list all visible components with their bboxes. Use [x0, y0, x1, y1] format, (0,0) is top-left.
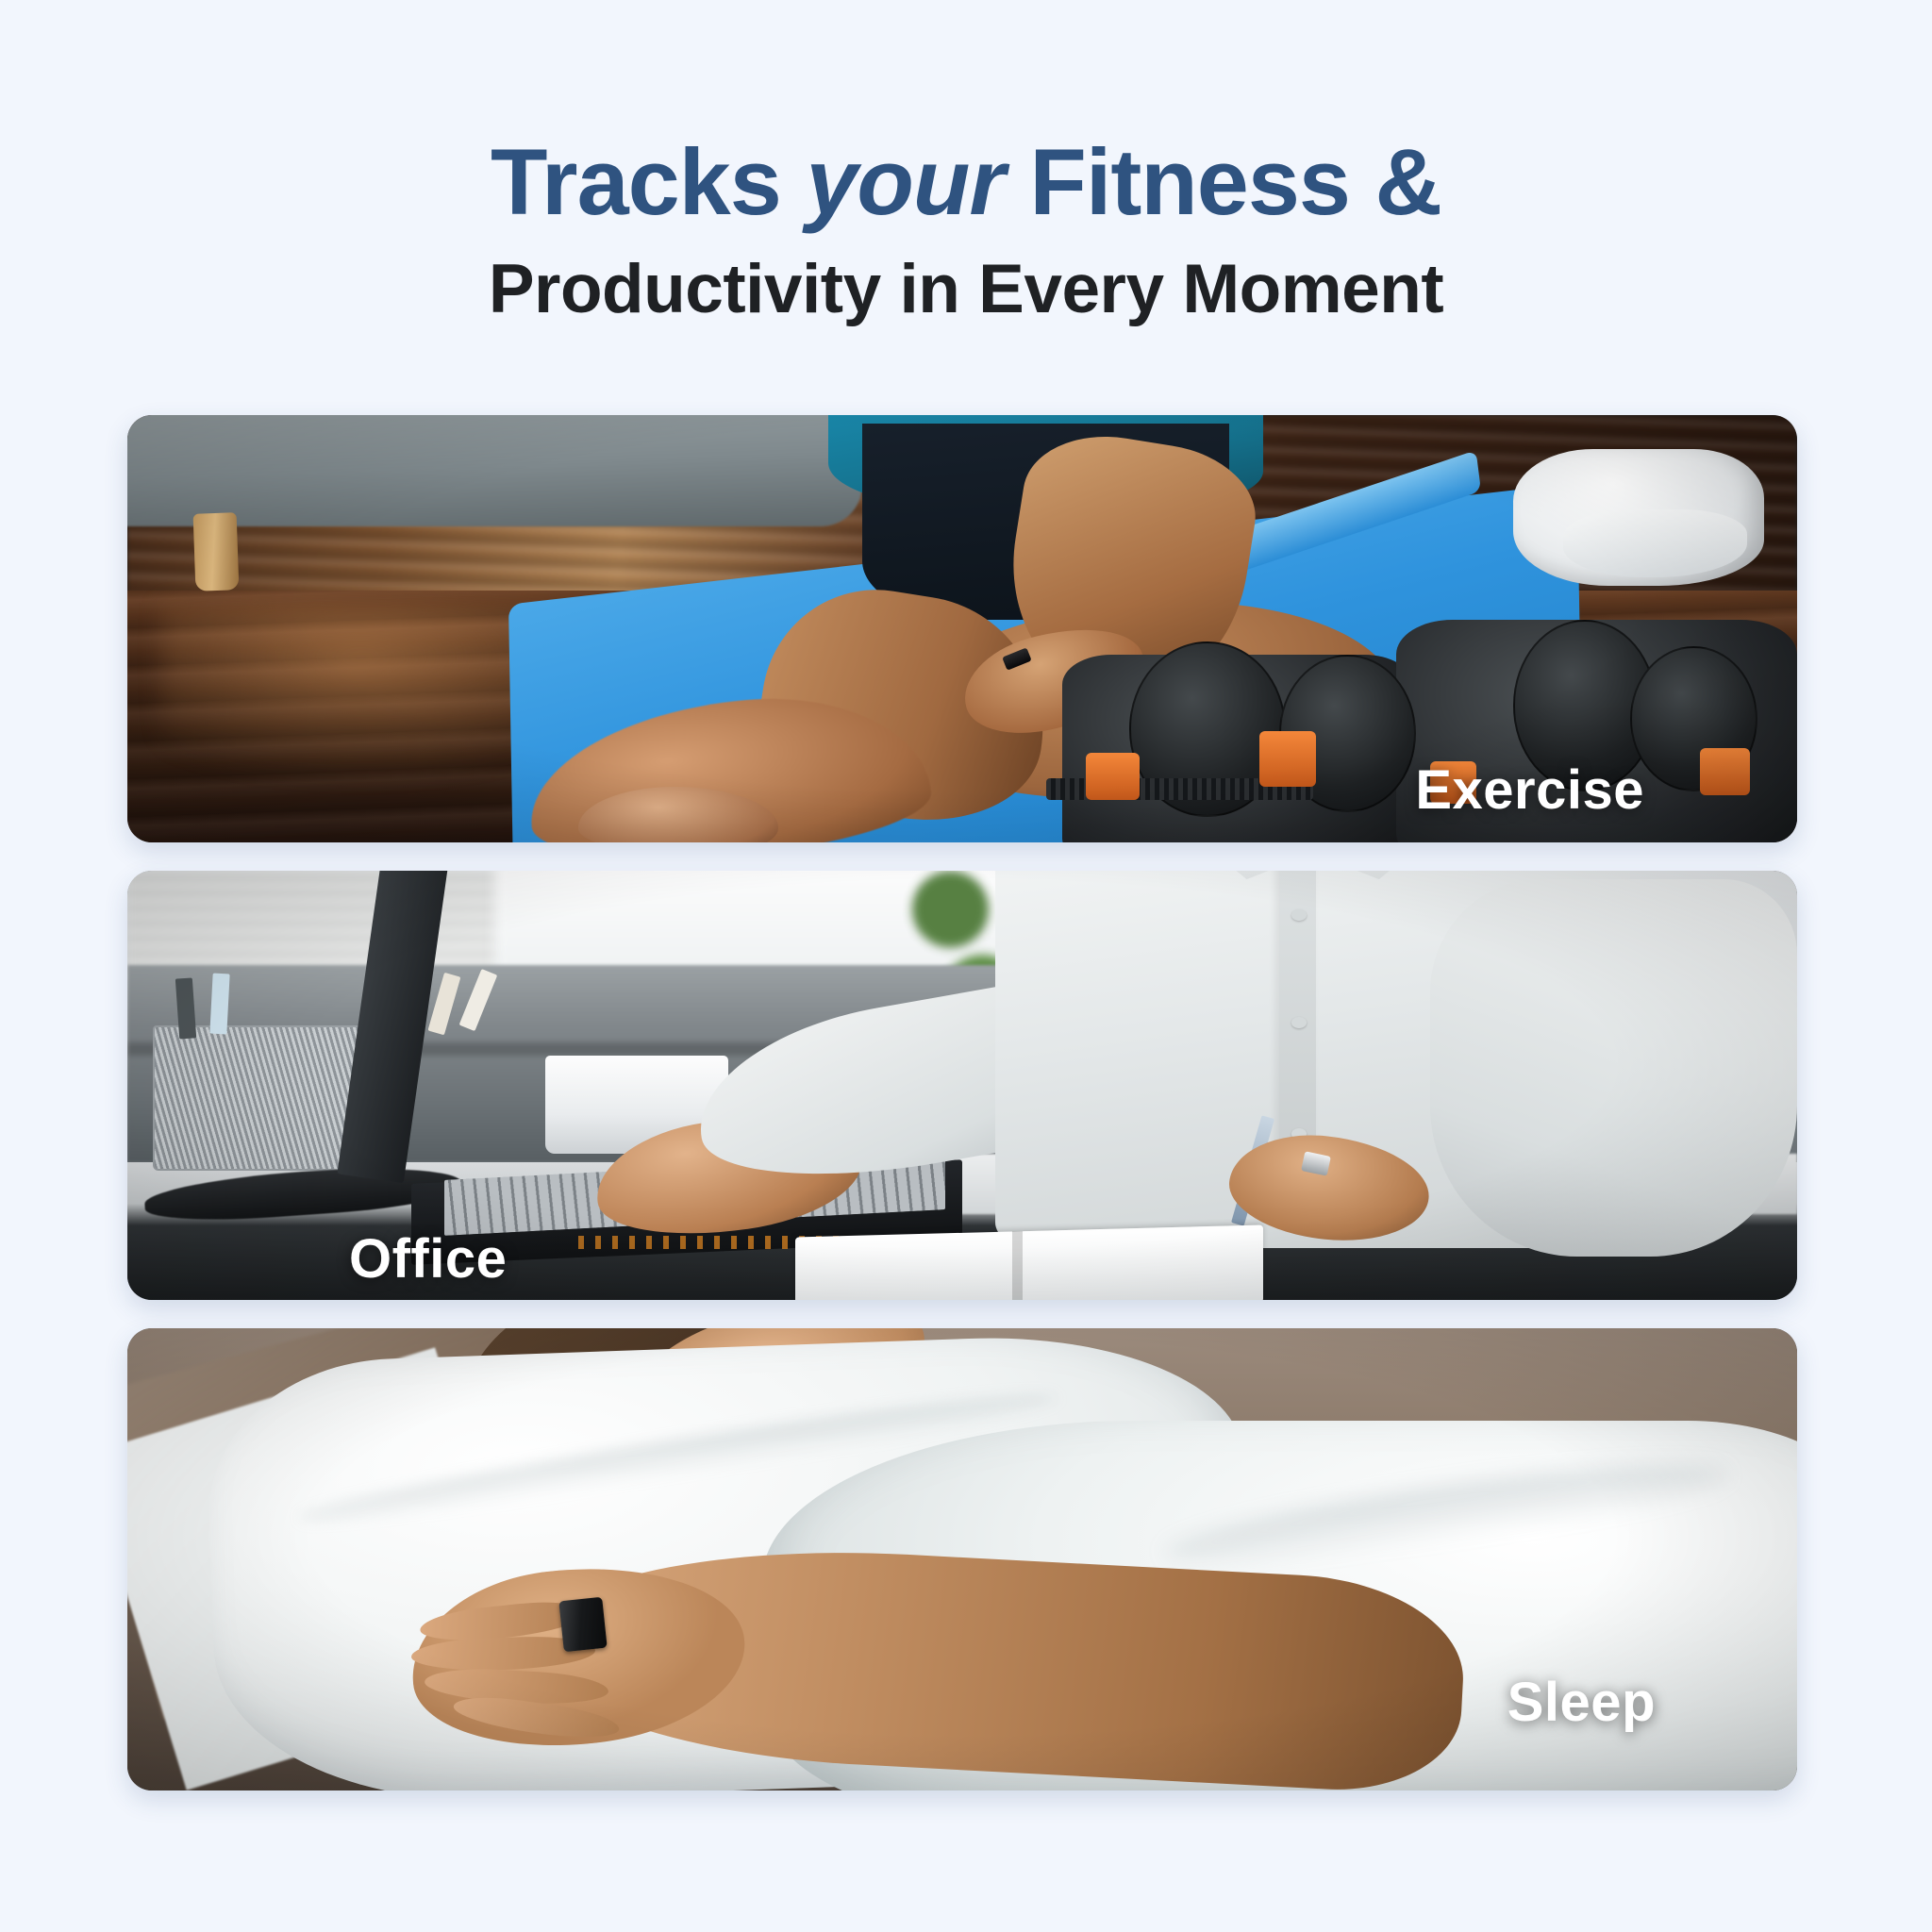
card-label-exercise: Exercise — [1415, 758, 1644, 822]
activity-card-office[interactable]: Office — [127, 871, 1797, 1300]
heading-emphasis-your: your — [806, 129, 1005, 234]
heading-text-tracks: Tracks — [491, 129, 806, 234]
orange-collar — [1086, 753, 1140, 800]
shirt-button — [1291, 909, 1307, 921]
card-label-office: Office — [349, 1227, 507, 1291]
notebook-spine — [1012, 1231, 1023, 1300]
heading-line-1: Tracks your Fitness & — [0, 132, 1932, 233]
activity-card-sleep[interactable]: Sleep — [127, 1328, 1797, 1790]
orange-collar — [1259, 731, 1316, 787]
activity-card-exercise[interactable]: Exercise — [127, 415, 1797, 842]
open-notebook — [795, 1225, 1263, 1300]
right-sleeve — [1430, 879, 1797, 1257]
heading-text-fitness: Fitness & — [1005, 129, 1441, 234]
shirt-button — [1291, 1017, 1307, 1028]
couch-leg — [192, 512, 239, 591]
page-title: Tracks your Fitness & Productivity in Ev… — [0, 132, 1932, 331]
pen — [209, 974, 229, 1035]
heading-line-2: Productivity in Every Moment — [0, 248, 1932, 331]
orange-collar — [1700, 748, 1750, 795]
white-towel-fold — [1563, 509, 1747, 577]
grey-couch — [127, 415, 862, 526]
card-label-sleep: Sleep — [1507, 1671, 1656, 1734]
black-smart-ring — [558, 1596, 607, 1651]
mesh-pencil-cup — [153, 1025, 370, 1172]
promo-page: Tracks your Fitness & Productivity in Ev… — [0, 0, 1932, 1932]
activity-card-list: Exercise — [127, 415, 1797, 1819]
